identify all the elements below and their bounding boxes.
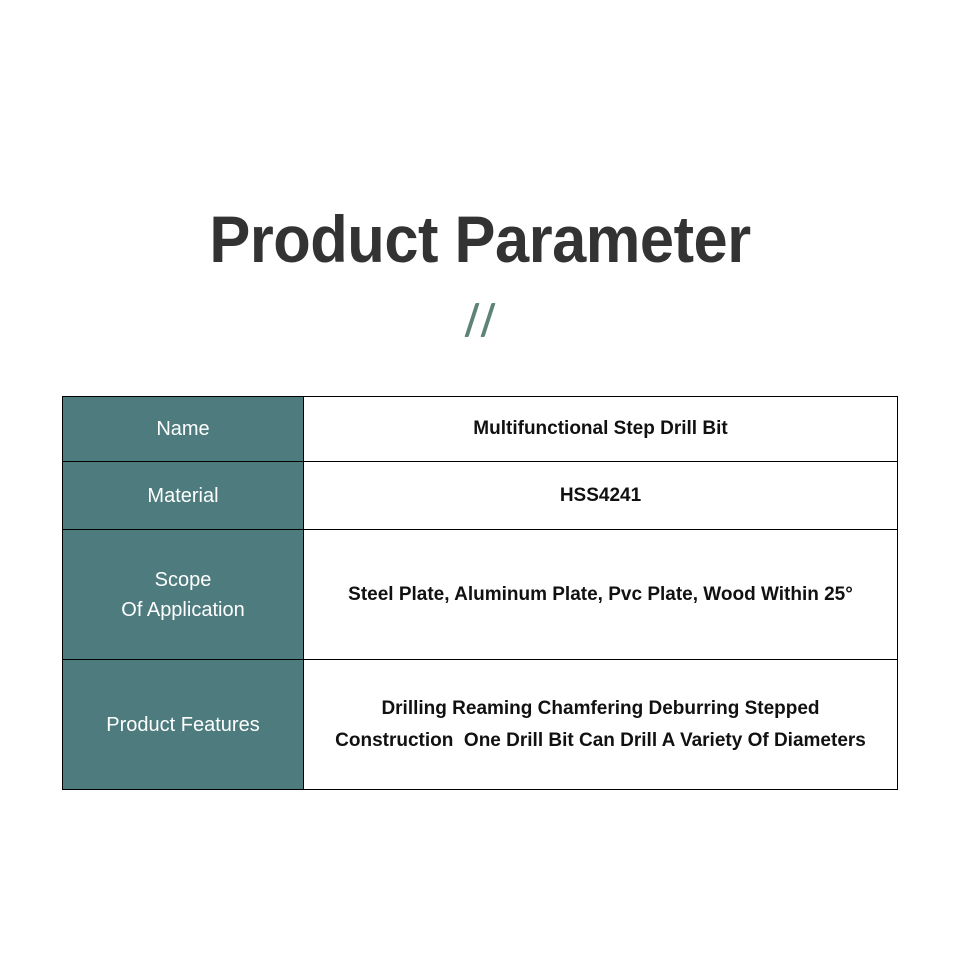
title-divider (0, 298, 960, 342)
row-label-scope-line-2: Of Application (63, 595, 303, 625)
row-value-product-features: Drilling Reaming Chamfering Deburring St… (304, 660, 898, 790)
table-row-name: Name Multifunctional Step Drill Bit (63, 397, 898, 462)
table-row-material: Material HSS4241 (63, 462, 898, 530)
row-label-material: Material (63, 462, 304, 530)
row-value-name-line-1: Multifunctional Step Drill Bit (304, 413, 897, 445)
product-parameter-table: Name Multifunctional Step Drill Bit Mate… (62, 396, 898, 790)
row-label-scope-of-application: Scope Of Application (63, 530, 304, 660)
row-value-scope-line-1: Steel Plate, Aluminum Plate, Pvc Plate, … (304, 579, 897, 611)
table-row-product-features: Product Features Drilling Reaming Chamfe… (63, 660, 898, 790)
row-value-product-features-line-2: Construction One Drill Bit Can Drill A V… (304, 725, 897, 757)
table-row-scope-of-application: Scope Of Application Steel Plate, Alumin… (63, 530, 898, 660)
row-value-material-line-1: HSS4241 (304, 480, 897, 512)
row-value-scope-of-application: Steel Plate, Aluminum Plate, Pvc Plate, … (304, 530, 898, 660)
page-title: Product Parameter (34, 196, 927, 282)
row-value-name: Multifunctional Step Drill Bit (304, 397, 898, 462)
product-parameter-page: Product Parameter Name Multifunctional S… (0, 0, 960, 960)
row-label-product-features-line-1: Product Features (63, 710, 303, 740)
page-header: Product Parameter (0, 196, 960, 342)
double-slash-icon (464, 303, 479, 337)
row-label-material-line-1: Material (63, 481, 303, 511)
row-value-material: HSS4241 (304, 462, 898, 530)
row-label-product-features: Product Features (63, 660, 304, 790)
double-slash-icon-second (480, 303, 495, 337)
row-label-scope-line-1: Scope (63, 565, 303, 595)
row-label-name-line-1: Name (63, 414, 303, 444)
row-value-product-features-line-1: Drilling Reaming Chamfering Deburring St… (304, 693, 897, 725)
row-label-name: Name (63, 397, 304, 462)
